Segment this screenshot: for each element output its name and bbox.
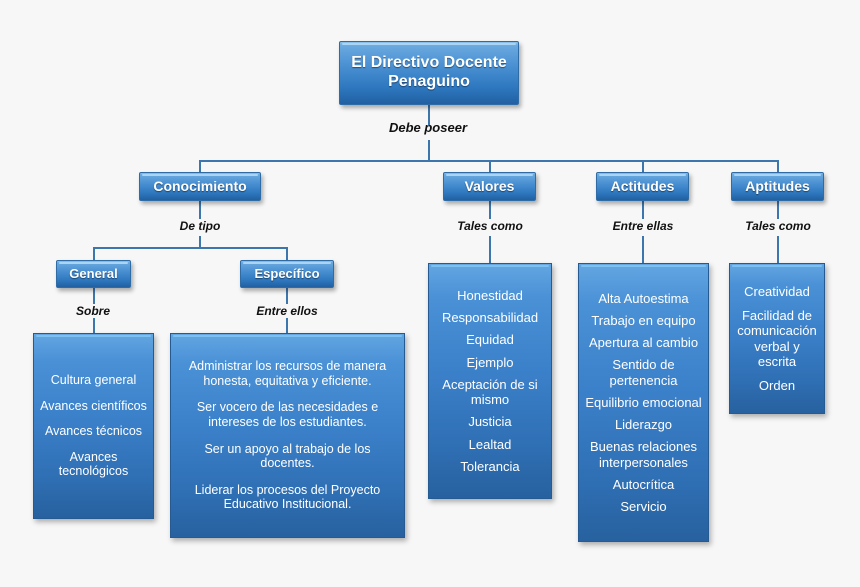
connector-valores-to-content <box>489 236 491 263</box>
branch-node-label: Actitudes <box>611 178 675 195</box>
connector-general-down <box>93 288 95 304</box>
connector-especifico-down <box>286 288 288 304</box>
edge-label-de-tipo: De tipo <box>159 219 241 233</box>
connector-root-to-bus <box>428 140 430 161</box>
content-box-actitudes[interactable]: Alta Autoestima Trabajo en equipo Apertu… <box>578 263 709 542</box>
branch-node-valores[interactable]: Valores <box>443 172 536 201</box>
list-item: Responsabilidad <box>434 310 546 325</box>
subbranch-node-general[interactable]: General <box>56 260 131 288</box>
list-item: Administrar los recursos de manera hones… <box>176 359 399 388</box>
list-item: Servicio <box>584 499 703 514</box>
connector-bus-to-general <box>93 247 95 260</box>
connector-general-to-content <box>93 318 95 333</box>
list-item: Creatividad <box>735 284 819 299</box>
branch-node-aptitudes[interactable]: Aptitudes <box>731 172 824 201</box>
list-item: Ser vocero de las necesidades e interese… <box>176 400 399 429</box>
list-item: Orden <box>735 378 819 393</box>
edge-label-entre-ellos: Entre ellos <box>243 304 331 318</box>
branch-node-conocimiento[interactable]: Conocimiento <box>139 172 261 201</box>
list-item: Alta Autoestima <box>584 291 703 306</box>
connector-conocimiento-down <box>199 201 201 219</box>
list-item: Justicia <box>434 414 546 429</box>
list-item: Liderazgo <box>584 417 703 432</box>
edge-label-debe-poseer: Debe poseer <box>378 120 478 135</box>
branch-node-label: Aptitudes <box>745 178 810 195</box>
subbranch-node-especifico[interactable]: Específico <box>240 260 334 288</box>
list-item: Cultura general <box>39 373 148 388</box>
list-item: Ser un apoyo al trabajo de los docentes. <box>176 442 399 471</box>
content-box-general[interactable]: Cultura general Avances científicos Avan… <box>33 333 154 519</box>
list-item: Equilibrio emocional <box>584 395 703 410</box>
list-item: Avances tecnológicos <box>39 450 148 479</box>
connector-aptitudes-to-content <box>777 236 779 263</box>
list-item: Ejemplo <box>434 355 546 370</box>
connector-especifico-to-content <box>286 318 288 333</box>
edge-label-tales-como-aptitudes: Tales como <box>730 219 826 233</box>
list-item: Sentido de pertenencia <box>584 357 703 387</box>
list-item: Lealtad <box>434 437 546 452</box>
list-item: Liderar los procesos del Proyecto Educat… <box>176 483 399 512</box>
edge-label-tales-como-valores: Tales como <box>442 219 538 233</box>
list-item: Tolerancia <box>434 459 546 474</box>
connector-valores-down <box>489 201 491 219</box>
list-item: Buenas relaciones interpersonales <box>584 439 703 469</box>
connector-aptitudes-down <box>777 201 779 219</box>
branch-node-actitudes[interactable]: Actitudes <box>596 172 689 201</box>
branch-node-label: Conocimiento <box>153 178 246 195</box>
list-item: Equidad <box>434 332 546 347</box>
root-node-el-directivo-docente-penaguino[interactable]: El Directivo Docente Penaguino <box>339 41 519 105</box>
edge-label-entre-ellas: Entre ellas <box>595 219 691 233</box>
list-item: Trabajo en equipo <box>584 313 703 328</box>
list-item: Apertura al cambio <box>584 335 703 350</box>
subbranch-node-label: Específico <box>254 266 319 281</box>
list-item: Aceptación de si mismo <box>434 377 546 407</box>
list-item: Avances técnicos <box>39 424 148 439</box>
list-item: Autocrítica <box>584 477 703 492</box>
connector-level3-bus <box>93 247 287 249</box>
content-box-especifico[interactable]: Administrar los recursos de manera hones… <box>170 333 405 538</box>
connector-bus-to-especifico <box>286 247 288 260</box>
connector-actitudes-down <box>642 201 644 219</box>
content-box-aptitudes[interactable]: Creatividad Facilidad de comunicación ve… <box>729 263 825 414</box>
list-item: Avances científicos <box>39 399 148 414</box>
content-box-valores[interactable]: Honestidad Responsabilidad Equidad Ejemp… <box>428 263 552 499</box>
list-item: Honestidad <box>434 288 546 303</box>
connector-actitudes-to-content <box>642 236 644 263</box>
subbranch-node-label: General <box>69 266 117 281</box>
organizational-chart-diagram: El Directivo Docente Penaguino Debe pose… <box>0 0 860 587</box>
branch-node-label: Valores <box>465 178 515 195</box>
root-node-label: El Directivo Docente Penaguino <box>340 54 518 92</box>
list-item: Facilidad de comunicación verbal y escri… <box>735 308 819 369</box>
edge-label-sobre: Sobre <box>58 304 128 318</box>
